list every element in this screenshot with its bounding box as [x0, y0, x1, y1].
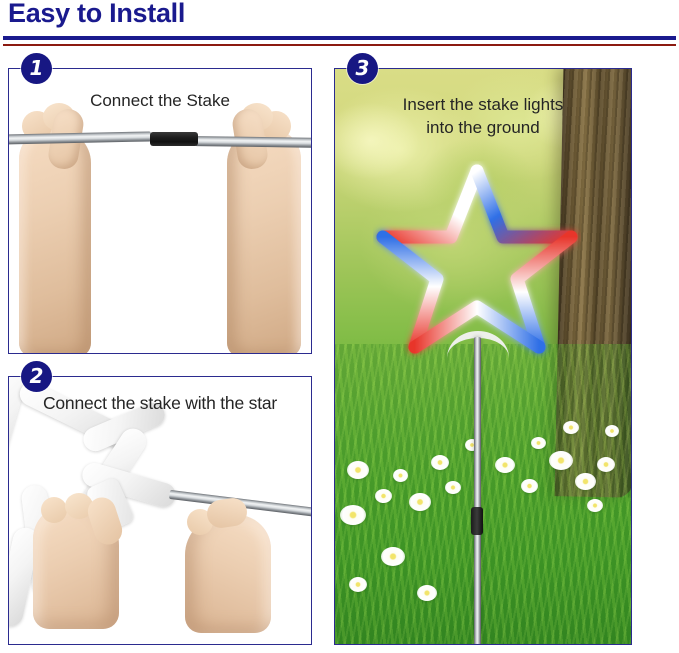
step-panel-1: Connect the Stake 1 — [8, 68, 312, 354]
flower — [605, 425, 619, 437]
flower — [549, 451, 573, 470]
black-connector-sleeve — [471, 507, 483, 535]
step-1-caption: Connect the Stake — [9, 89, 311, 112]
step-3-illustration: Insert the stake lights into the ground — [335, 69, 631, 644]
left-hand-finger-a — [41, 497, 67, 523]
ground-stake-rod — [474, 337, 481, 644]
step-1-illustration: Connect the Stake — [9, 69, 311, 353]
step-3-caption-line-2: into the ground — [335, 116, 631, 139]
flower — [563, 421, 579, 434]
flower — [445, 481, 461, 494]
flower — [521, 479, 538, 493]
black-connector-sleeve — [150, 132, 198, 146]
divider-rule-blue — [3, 36, 676, 40]
step-badge-2: 2 — [21, 361, 52, 392]
step-badge-3: 3 — [347, 53, 378, 84]
flower — [375, 489, 392, 503]
step-2-illustration: Connect the stake with the star — [9, 377, 311, 644]
flower — [587, 499, 603, 512]
step-2-caption: Connect the stake with the star — [9, 392, 311, 415]
step-3-caption: Insert the stake lights into the ground — [335, 93, 631, 139]
flower — [409, 493, 431, 511]
step-panel-3: Insert the stake lights into the ground … — [334, 68, 632, 645]
flower — [597, 457, 615, 472]
flower — [347, 461, 369, 479]
flower — [417, 585, 437, 601]
flower — [340, 505, 366, 525]
flower — [381, 547, 405, 566]
flower — [531, 437, 546, 449]
header-divider — [3, 36, 676, 47]
flower — [349, 577, 367, 592]
divider-rule-red — [3, 44, 676, 46]
step-badge-1: 1 — [21, 53, 52, 84]
step-3-caption-line-1: Insert the stake lights — [335, 93, 631, 116]
flower — [393, 469, 408, 482]
flower — [431, 455, 449, 470]
flower — [575, 473, 596, 490]
flower — [495, 457, 515, 473]
metal-rod-left — [9, 131, 151, 144]
page-title: Easy to Install — [8, 0, 185, 29]
step-panel-2: Connect the stake with the star 2 — [8, 376, 312, 645]
metal-rod-right — [195, 136, 311, 148]
